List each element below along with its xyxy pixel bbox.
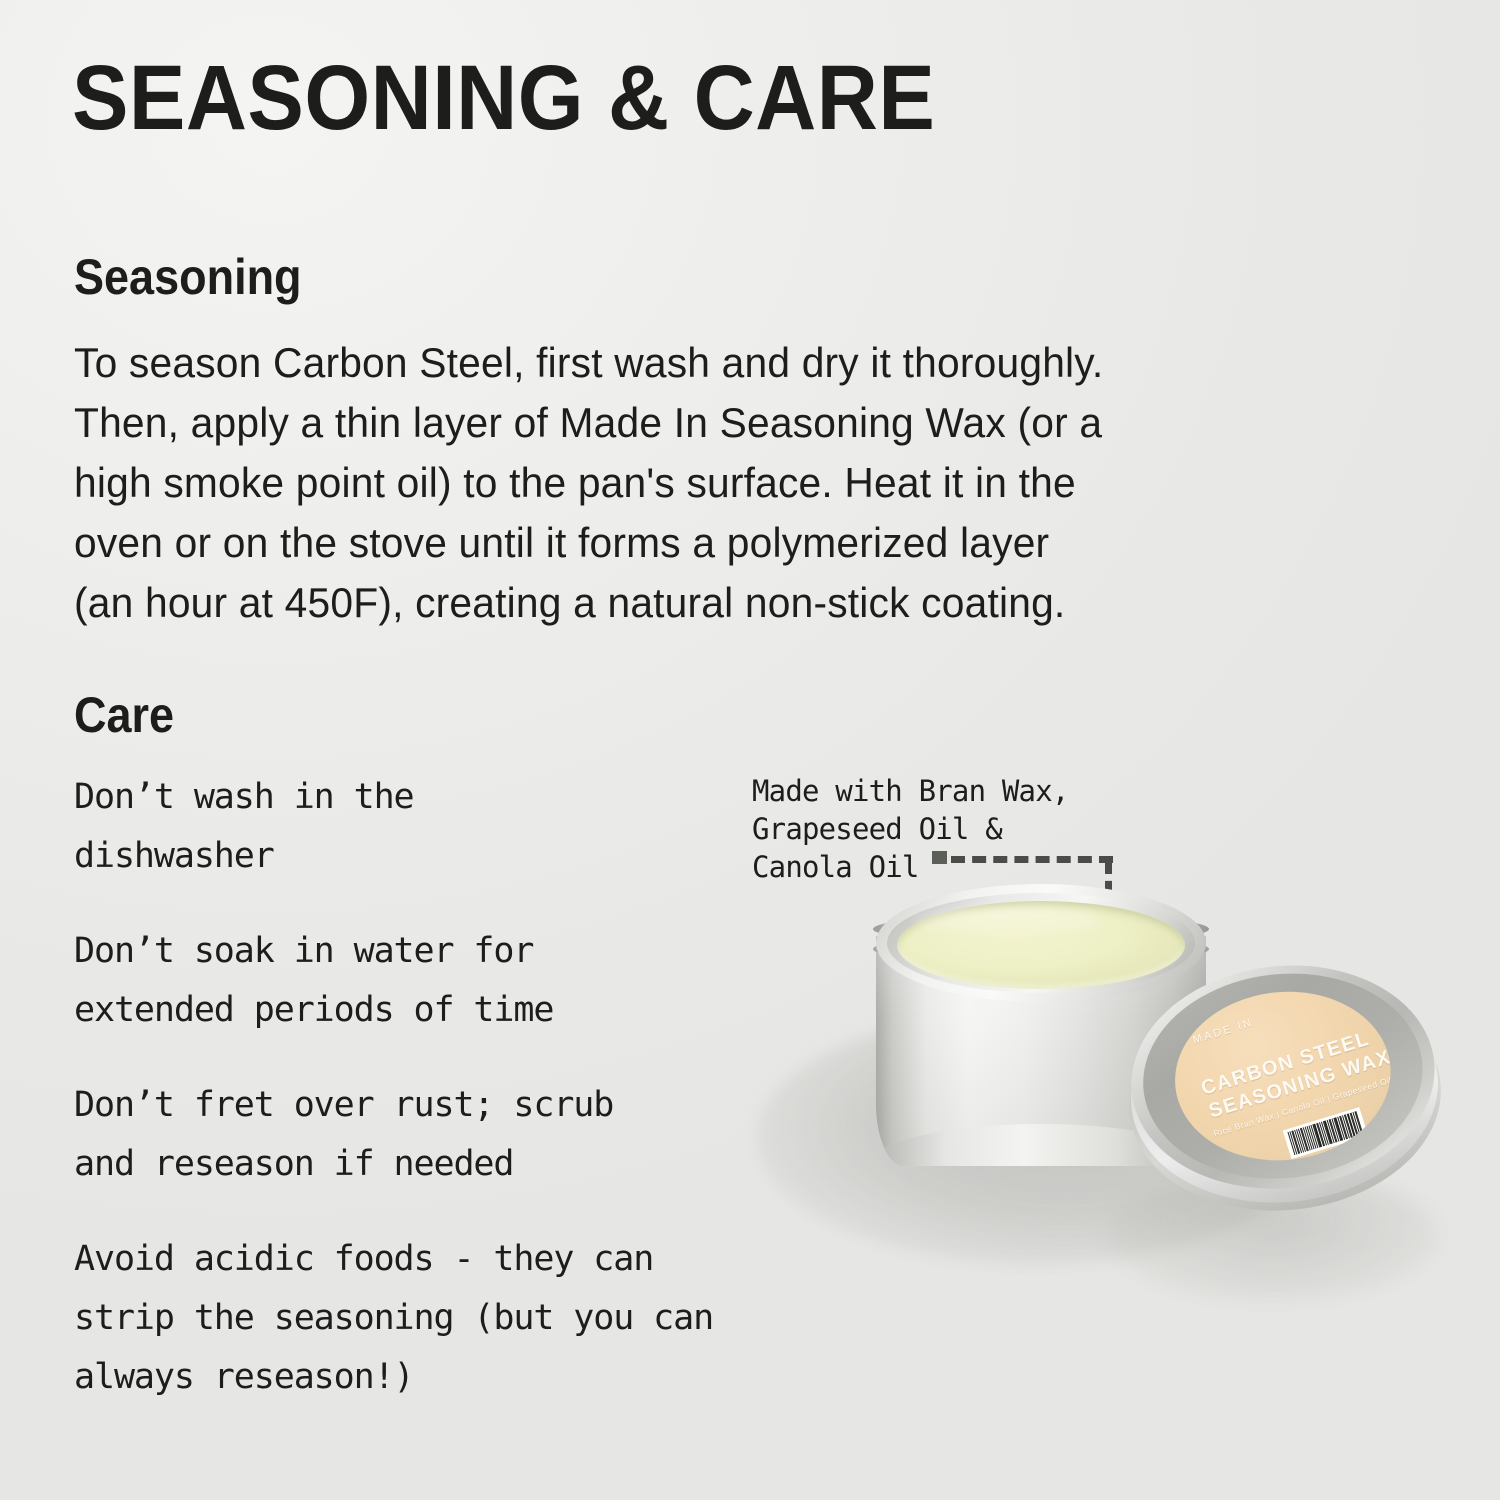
wax-highlight: [914, 908, 1104, 938]
care-item-line: strip the seasoning (but you can: [74, 1289, 864, 1348]
care-list: Don’t wash in the dishwasher Don’t soak …: [74, 768, 864, 1443]
seasoning-line: (an hour at 450F), creating a natural no…: [74, 573, 1384, 633]
ingredients-callout-text: Made with Bran Wax, Grapeseed Oil & Cano…: [752, 772, 1069, 886]
callout-line: Grapeseed Oil &: [752, 810, 1069, 848]
seasoning-line: high smoke point oil) to the pan's surfa…: [74, 453, 1384, 513]
care-heading: Care: [74, 690, 174, 740]
page-title: SEASONING & CARE: [72, 52, 935, 144]
seasoning-line: To season Carbon Steel, first wash and d…: [74, 333, 1384, 393]
callout-line: Canola Oil: [752, 848, 1069, 886]
care-item-line: extended periods of time: [74, 981, 864, 1040]
tin-lid: MADE IN CARBON STEEL SEASONING WAX Rice …: [1116, 946, 1452, 1227]
callout-marker-start-icon: [932, 851, 947, 864]
care-item-line: dishwasher: [74, 827, 864, 886]
care-item-line: Don’t wash in the: [74, 768, 864, 827]
care-item-line: Don’t soak in water for: [74, 922, 864, 981]
care-item-line: always reseason!): [74, 1348, 864, 1407]
care-list-item: Don’t fret over rust; scrub and reseason…: [74, 1076, 864, 1194]
care-item-line: Avoid acidic foods - they can: [74, 1230, 864, 1289]
care-item-line: Don’t fret over rust; scrub: [74, 1076, 864, 1135]
care-list-item: Don’t soak in water for extended periods…: [74, 922, 864, 1040]
seasoning-line: Then, apply a thin layer of Made In Seas…: [74, 393, 1384, 453]
callout-leader-horizontal-line: [951, 856, 1113, 863]
seasoning-line: oven or on the stove until it forms a po…: [74, 513, 1384, 573]
care-list-item: Avoid acidic foods - they can strip the …: [74, 1230, 864, 1407]
seasoning-heading: Seasoning: [74, 252, 302, 302]
seasoning-body-text: To season Carbon Steel, first wash and d…: [74, 333, 1384, 633]
callout-line: Made with Bran Wax,: [752, 772, 1069, 810]
care-list-item: Don’t wash in the dishwasher: [74, 768, 864, 886]
care-item-line: and reseason if needed: [74, 1135, 864, 1194]
infographic-page: SEASONING & CARE Seasoning To season Car…: [0, 0, 1500, 1500]
